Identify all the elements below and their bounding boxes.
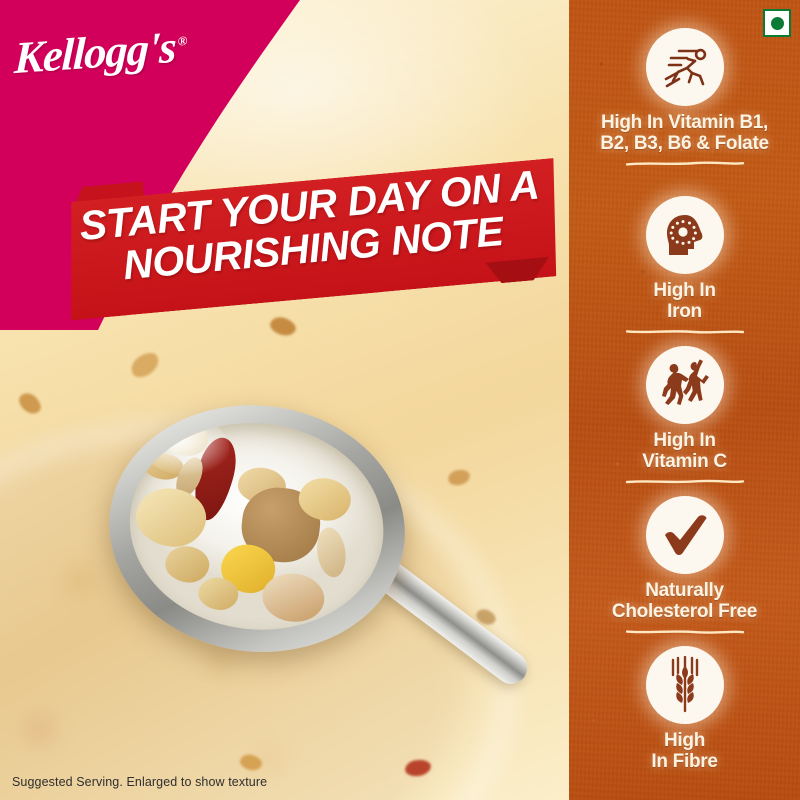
benefit-icon-circle — [646, 496, 724, 574]
product-photo-panel: Kellogg's® START YOUR DAY ON A NOURISHIN… — [0, 0, 569, 800]
benefits-sidebar: High In Vitamin B1, B2, B3, B6 & Folate — [569, 0, 800, 800]
trademark-symbol: ® — [177, 33, 186, 49]
kelloggs-product-poster: Kellogg's® START YOUR DAY ON A NOURISHIN… — [0, 0, 800, 800]
benefit-icon-circle — [646, 646, 724, 724]
wheat-stalk-icon — [659, 656, 711, 714]
serving-disclaimer: Suggested Serving. Enlarged to show text… — [12, 775, 267, 789]
running-man-icon — [657, 39, 713, 95]
vegetarian-mark-icon — [763, 9, 791, 37]
benefit-divider — [626, 329, 744, 334]
benefit-item-vitamin-b: High In Vitamin B1, B2, B3, B6 & Folate — [569, 28, 800, 166]
benefit-label: High In Vitamin C — [569, 431, 800, 472]
benefit-label: High In Vitamin B1, B2, B3, B6 & Folate — [569, 113, 800, 154]
flying-flake — [15, 389, 44, 418]
benefit-icon-circle — [646, 28, 724, 106]
benefit-icon-circle — [646, 346, 724, 424]
flying-flake — [268, 314, 298, 338]
jumping-people-icon — [656, 358, 714, 412]
benefit-item-iron: High In Iron — [569, 196, 800, 334]
benefit-label: High In Fibre — [569, 731, 800, 772]
benefit-item-cholesterol-free: Naturally Cholesterol Free — [569, 496, 800, 634]
benefit-divider — [626, 479, 744, 484]
benefit-label: High In Iron — [569, 281, 800, 322]
benefit-icon-circle — [646, 196, 724, 274]
benefit-item-vitamin-c: High In Vitamin C — [569, 346, 800, 484]
benefits-list: High In Vitamin B1, B2, B3, B6 & Folate — [569, 0, 800, 800]
cereal-bit-almond — [314, 526, 349, 579]
benefit-divider — [626, 161, 744, 166]
kelloggs-logo: Kellogg's® — [13, 24, 189, 81]
checkmark-icon — [658, 509, 712, 561]
benefit-label: Naturally Cholesterol Free — [569, 581, 800, 622]
benefit-divider — [626, 629, 744, 634]
cereal-bit-flake — [164, 544, 212, 584]
benefit-item-fibre: High In Fibre — [569, 646, 800, 772]
head-brain-icon — [658, 208, 712, 262]
vegetarian-dot — [771, 17, 784, 30]
